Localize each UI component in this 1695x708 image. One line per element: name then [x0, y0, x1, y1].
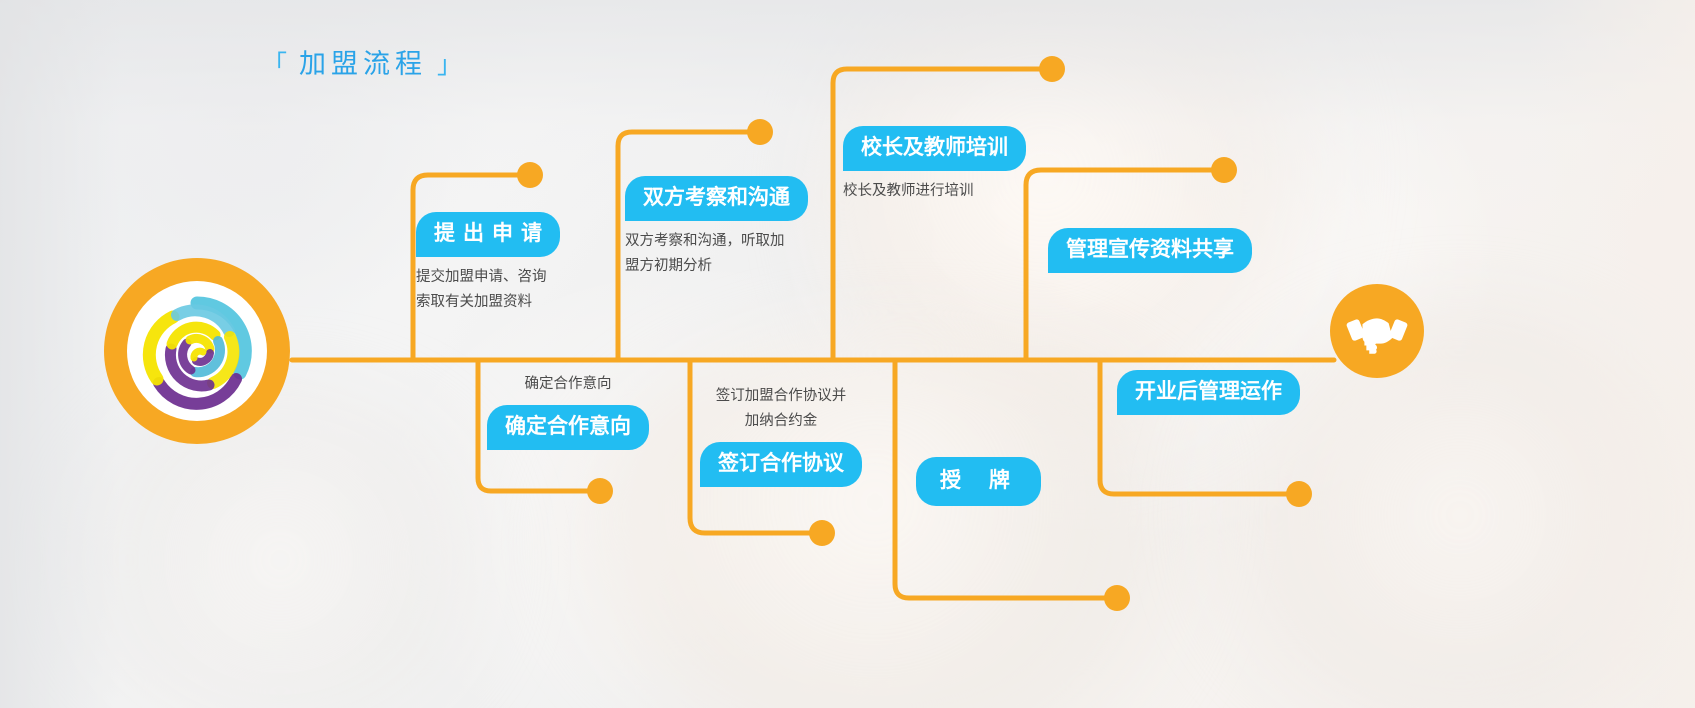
step-desc-3: 双方考察和沟通，听取加 盟方初期分析	[625, 229, 808, 279]
step-desc-4: 签订加盟合作协议并 加纳合约金	[700, 384, 862, 434]
step-node-4[interactable]: 签订加盟合作协议并 加纳合约金 签订合作协议	[700, 384, 862, 487]
step-node-1[interactable]: 提出申请 提交加盟申请、咨询 索取有关加盟资料	[416, 212, 560, 315]
step-node-5[interactable]: 校长及教师培训 校长及教师进行培训	[843, 126, 1026, 204]
step-label-1[interactable]: 提出申请	[416, 212, 560, 257]
connector-dot-step-1	[517, 162, 543, 188]
connector-dot-step-6	[1104, 585, 1130, 611]
franchise-process-infographic: 「加盟流程」	[0, 0, 1695, 708]
connector-dot-step-7	[1211, 157, 1237, 183]
page-title: 「加盟流程」	[262, 42, 464, 81]
step-label-4[interactable]: 签订合作协议	[700, 442, 862, 487]
title-text: 加盟流程	[289, 49, 437, 79]
swirl-logo-graphic	[133, 287, 261, 415]
step-node-7[interactable]: 管理宣传资料共享	[1048, 228, 1252, 273]
start-logo-badge	[104, 258, 290, 444]
connector-dot-step-3	[747, 119, 773, 145]
title-bracket-right: 」	[437, 51, 464, 79]
connector-step-5	[833, 69, 1044, 360]
step-desc-1: 提交加盟申请、咨询 索取有关加盟资料	[416, 265, 560, 315]
step-desc-5: 校长及教师进行培训	[843, 179, 1026, 204]
step-label-7[interactable]: 管理宣传资料共享	[1048, 228, 1252, 273]
connector-dot-step-5	[1039, 56, 1065, 82]
connector-dot-step-2	[587, 478, 613, 504]
step-node-3[interactable]: 双方考察和沟通 双方考察和沟通，听取加 盟方初期分析	[625, 176, 808, 279]
end-handshake-badge	[1330, 284, 1424, 378]
step-label-8[interactable]: 开业后管理运作	[1117, 370, 1300, 415]
connector-dot-step-4	[809, 520, 835, 546]
step-label-5[interactable]: 校长及教师培训	[843, 126, 1026, 171]
swirl-logo-icon	[127, 281, 267, 421]
step-node-2[interactable]: 确定合作意向 确定合作意向	[487, 372, 649, 450]
step-label-3[interactable]: 双方考察和沟通	[625, 176, 808, 221]
step-node-8[interactable]: 开业后管理运作	[1117, 370, 1300, 415]
handshake-icon	[1346, 300, 1408, 362]
step-desc-2: 确定合作意向	[487, 372, 649, 397]
title-bracket-left: 「	[262, 51, 289, 79]
step-label-2[interactable]: 确定合作意向	[487, 405, 649, 450]
step-node-6[interactable]: 授 牌	[916, 457, 1041, 506]
connector-dot-step-8	[1286, 481, 1312, 507]
step-label-6[interactable]: 授 牌	[916, 457, 1041, 506]
